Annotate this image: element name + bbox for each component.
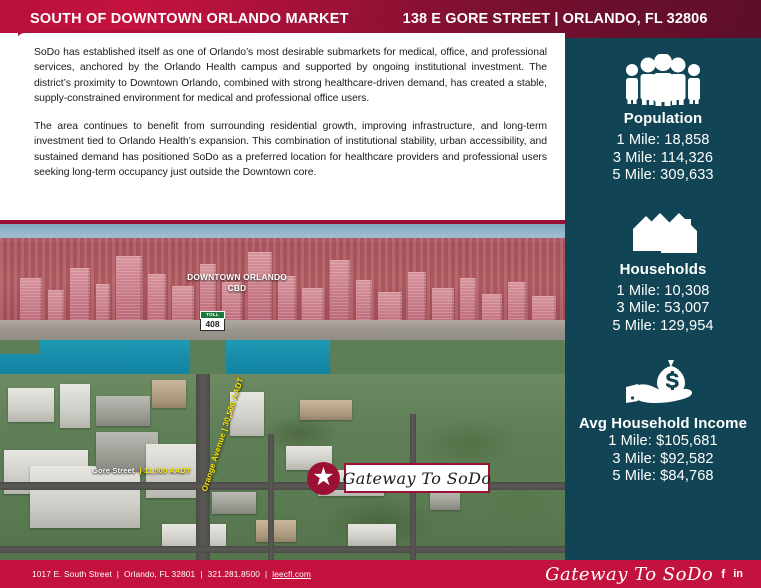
- stat-rows-households: 1 Mile: 10,308 3 Mile: 53,007 5 Mile: 12…: [565, 283, 761, 336]
- stat-block-avg-household-income: Avg Household Income 1 Mile: $105,681 3 …: [565, 357, 761, 486]
- demographics-sidebar: Population 1 Mile: 18,858 3 Mile: 114,32…: [565, 38, 761, 560]
- footer-bar: 1017 E. South Street | Orlando, FL 32801…: [0, 560, 761, 588]
- footer-website-link[interactable]: leecfl.com: [272, 569, 311, 579]
- households-5-mile: 5 Mile: 129,954: [565, 318, 761, 336]
- gore-street-aadt: | 11,500 AADT: [139, 466, 190, 475]
- footer-separator-1: |: [117, 569, 119, 579]
- map-site-logo-text: Gateway To SoDo: [343, 469, 492, 488]
- shield-route-number: 408: [200, 319, 225, 331]
- footer-city-state-zip: Orlando, FL 32801: [124, 569, 195, 579]
- population-5-mile: 5 Mile: 309,633: [565, 167, 761, 185]
- narrative-paragraph-1: SoDo has established itself as one of Or…: [34, 45, 547, 106]
- households-3-mile: 3 Mile: 53,007: [565, 300, 761, 318]
- income-3-mile: 3 Mile: $92,582: [565, 451, 761, 469]
- stat-block-population: Population 1 Mile: 18,858 3 Mile: 114,32…: [565, 54, 761, 185]
- people-group-icon: [565, 54, 761, 106]
- stat-title-households: Households: [565, 261, 761, 278]
- footer-logo-text: Gateway To SoDo: [545, 564, 713, 585]
- houses-icon: [565, 209, 761, 257]
- footer-phone[interactable]: 321.281.8500: [208, 569, 260, 579]
- households-1-mile: 1 Mile: 10,308: [565, 283, 761, 301]
- star-icon: ★: [312, 465, 334, 490]
- flyer-page: SOUTH OF DOWNTOWN ORLANDO MARKET 138 E G…: [0, 0, 761, 588]
- stat-rows-population: 1 Mile: 18,858 3 Mile: 114,326 5 Mile: 3…: [565, 132, 761, 185]
- gore-street-name: Gore Street: [92, 466, 134, 475]
- population-3-mile: 3 Mile: 114,326: [565, 150, 761, 168]
- map-label-gore-street: Gore Street| 11,500 AADT: [92, 466, 191, 475]
- site-star-marker[interactable]: ★: [307, 462, 340, 495]
- stat-title-avg-household-income: Avg Household Income: [565, 415, 761, 432]
- cbd-line-1: DOWNTOWN ORLANDO: [187, 272, 287, 282]
- income-5-mile: 5 Mile: $84,768: [565, 468, 761, 486]
- footer-brand-group: Gateway To SoDo f in: [545, 560, 743, 588]
- market-narrative-panel: SoDo has established itself as one of Or…: [16, 33, 565, 220]
- map-site-logo-box: Gateway To SoDo: [344, 463, 490, 493]
- facebook-icon[interactable]: f: [721, 568, 725, 580]
- hand-money-bag-icon: [565, 357, 761, 411]
- stat-title-population: Population: [565, 110, 761, 127]
- map-label-downtown-cbd: DOWNTOWN ORLANDO CBD: [167, 272, 307, 293]
- cbd-line-2: CBD: [228, 283, 247, 293]
- highway-shield-408-icon: TOLL 408: [200, 311, 225, 331]
- linkedin-icon[interactable]: in: [733, 568, 743, 580]
- footer-separator-3: |: [265, 569, 267, 579]
- property-address: 138 E GORE STREET | ORLANDO, FL 32806: [403, 11, 708, 27]
- footer-street: 1017 E. South Street: [32, 569, 112, 579]
- stat-block-households: Households 1 Mile: 10,308 3 Mile: 53,007…: [565, 209, 761, 336]
- population-1-mile: 1 Mile: 18,858: [565, 132, 761, 150]
- map-top-divider: [0, 220, 565, 224]
- page-title: SOUTH OF DOWNTOWN ORLANDO MARKET: [30, 11, 349, 27]
- footer-separator-2: |: [200, 569, 202, 579]
- shield-toll-label: TOLL: [200, 311, 225, 319]
- narrative-paragraph-2: The area continues to benefit from surro…: [34, 119, 547, 180]
- stat-rows-avg-household-income: 1 Mile: $105,681 3 Mile: $92,582 5 Mile:…: [565, 433, 761, 486]
- footer-contact-line: 1017 E. South Street | Orlando, FL 32801…: [32, 569, 311, 579]
- income-1-mile: 1 Mile: $105,681: [565, 433, 761, 451]
